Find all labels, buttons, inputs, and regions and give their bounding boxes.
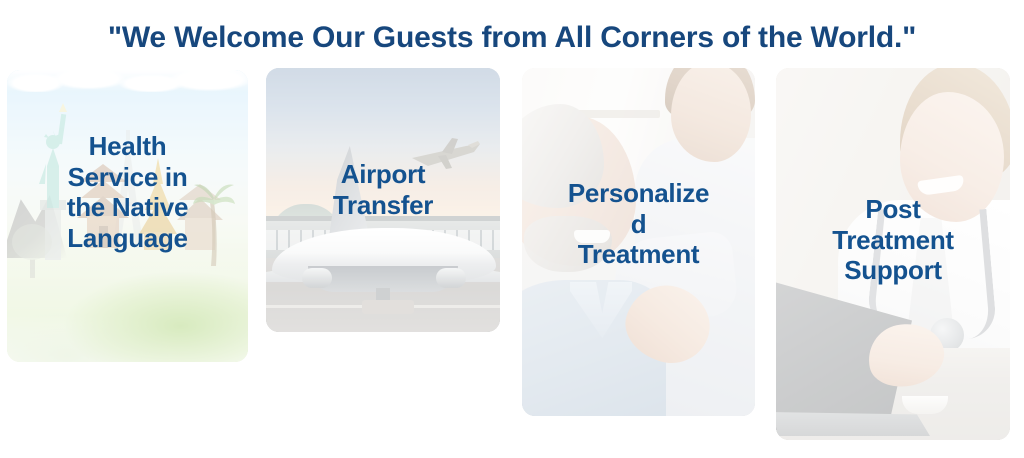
feature-card-airport-transfer[interactable]: Airport Transfer (266, 68, 500, 332)
feature-card-world-languages[interactable]: Health Service in the Native Language (7, 70, 248, 362)
caption-line: Airport (274, 159, 492, 190)
feature-card-caption: Airport Transfer (266, 159, 500, 220)
caption-line: Health (15, 131, 240, 162)
caption-line: Support (784, 255, 1002, 286)
caption-line: Treatment (784, 225, 1002, 256)
caption-line: Language (15, 223, 240, 254)
caption-line: d (530, 209, 747, 240)
feature-card-caption: Health Service in the Native Language (7, 131, 248, 254)
caption-line: Service in (15, 162, 240, 193)
caption-line: Transfer (274, 190, 492, 221)
caption-line: Treatment (530, 239, 747, 270)
feature-card-caption: Personalize d Treatment (522, 178, 755, 270)
caption-line: Personalize (530, 178, 747, 209)
feature-card-personalized-treatment[interactable]: Personalize d Treatment (522, 68, 755, 416)
caption-line: Post (784, 194, 1002, 225)
feature-card-caption: Post Treatment Support (776, 194, 1010, 286)
page-root: "We Welcome Our Guests from All Corners … (0, 0, 1024, 458)
page-title: "We Welcome Our Guests from All Corners … (0, 21, 1024, 55)
feature-card-post-treatment-support[interactable]: Post Treatment Support (776, 68, 1010, 440)
caption-line: the Native (15, 192, 240, 223)
